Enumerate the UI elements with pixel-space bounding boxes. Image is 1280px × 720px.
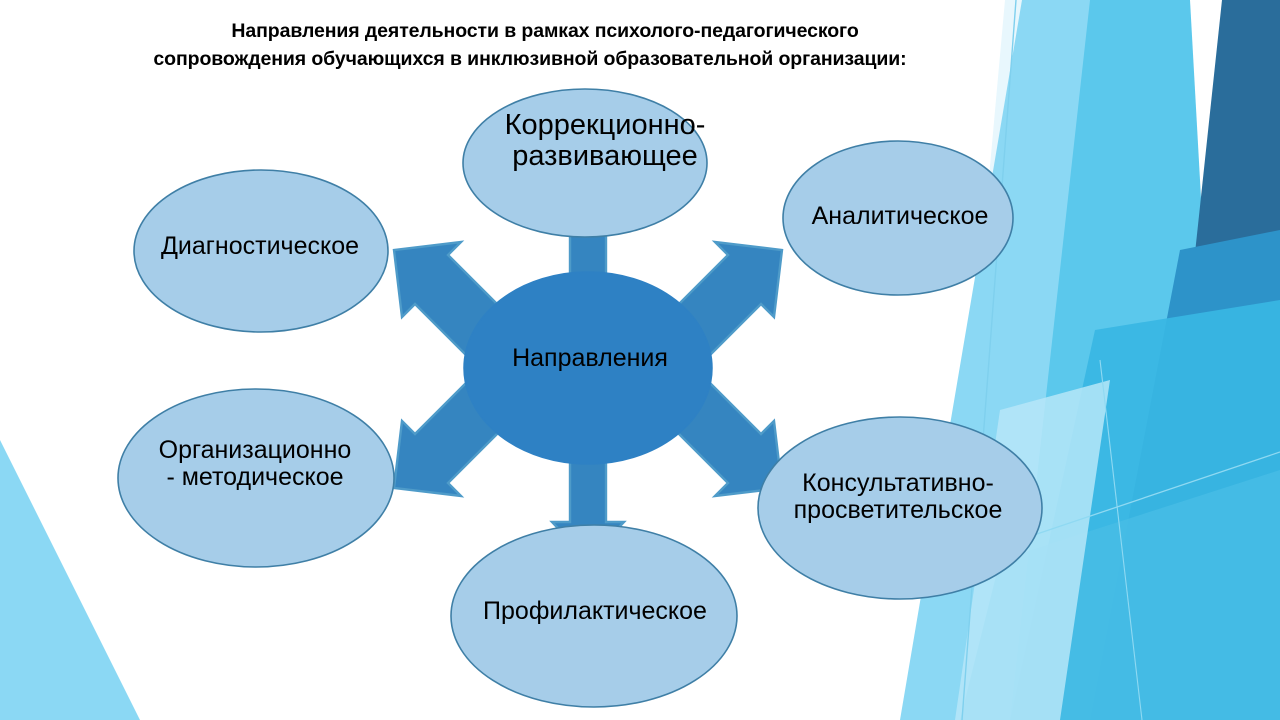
page-title-line-2: сопровождения обучающихся в инклюзивной … <box>0 46 1060 74</box>
node-analytical[interactable] <box>783 141 1013 295</box>
node-diagnostic[interactable] <box>134 170 388 332</box>
page-title: Направления деятельности в рамках психол… <box>0 18 1060 73</box>
slide-canvas: Направления деятельности в рамках психол… <box>0 0 1280 720</box>
center-node[interactable] <box>464 272 712 464</box>
hub-and-spoke-diagram <box>0 0 1280 720</box>
node-organizational-methodical[interactable] <box>118 389 394 567</box>
node-correctional-developmental[interactable] <box>463 89 707 237</box>
page-title-line-1: Направления деятельности в рамках психол… <box>0 18 1060 46</box>
node-consultative-educational[interactable] <box>758 417 1042 599</box>
node-prophylactic[interactable] <box>451 525 737 707</box>
